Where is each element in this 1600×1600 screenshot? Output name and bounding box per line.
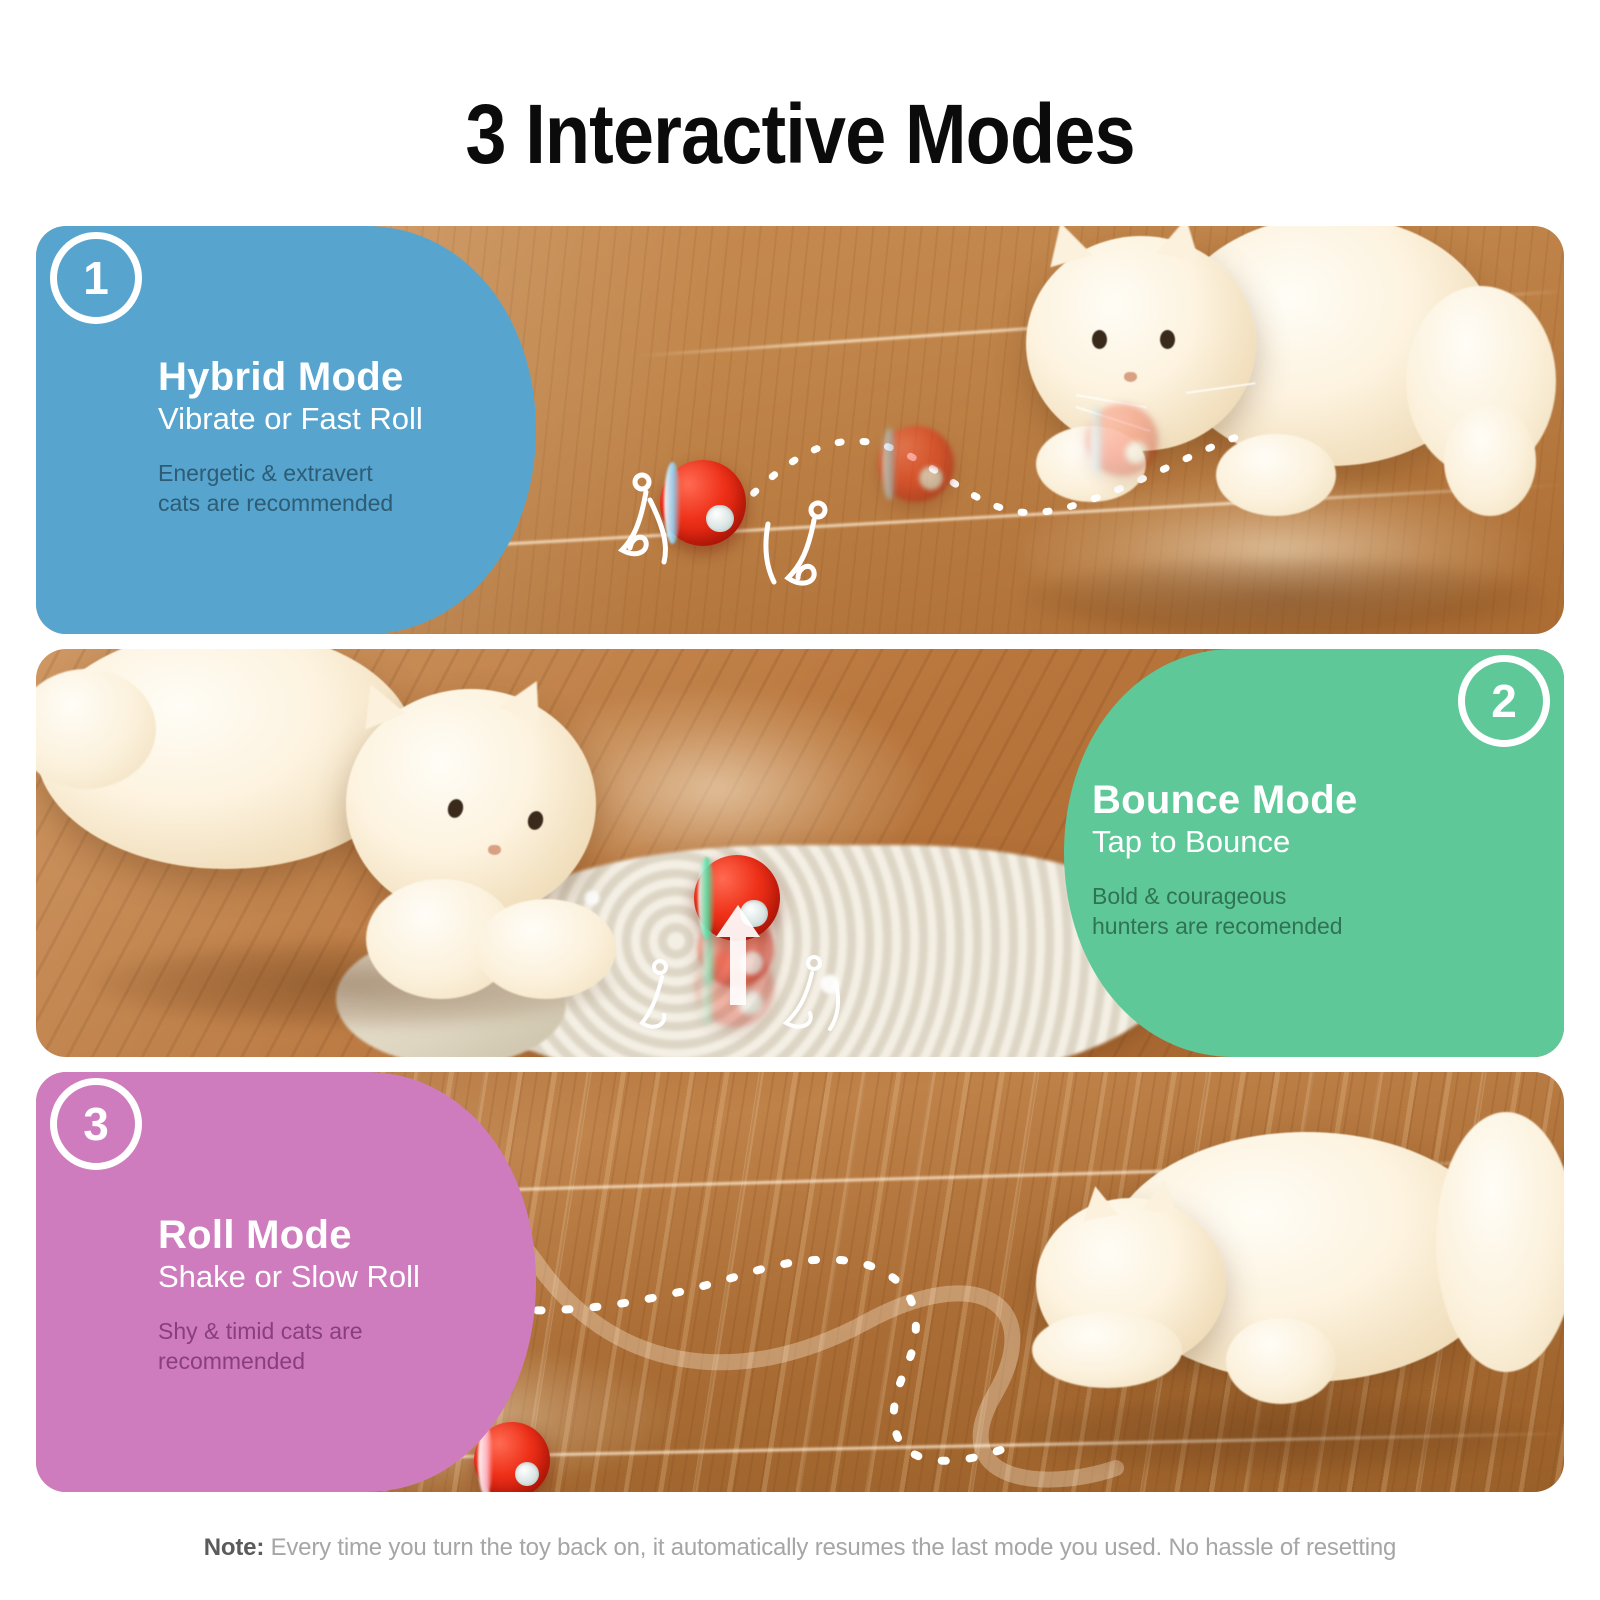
ball-led <box>919 466 943 490</box>
toy-ball-ghost <box>1086 404 1158 476</box>
cat-paw-rear-left <box>1226 1318 1336 1404</box>
mode-subtitle: Vibrate or Fast Roll <box>158 402 518 436</box>
mode-subtitle: Tap to Bounce <box>1092 825 1472 859</box>
mode-panel-roll[interactable]: 3 Roll Mode Shake or Slow Roll Shy & tim… <box>36 1072 1564 1492</box>
mode-badge-2: 2 <box>1458 655 1550 747</box>
footer-note: Note: Every time you turn the toy back o… <box>0 1534 1600 1562</box>
cat-paw-reaching <box>476 899 616 999</box>
ball-stripe <box>698 857 715 940</box>
caption-bounce-mode: Bounce Mode Tap to Bounce Bold & courage… <box>1092 779 1472 942</box>
cat-paw-front <box>1032 1312 1182 1388</box>
cat-nose <box>1124 372 1137 382</box>
cat-ear-right <box>1142 1178 1181 1215</box>
ball-led <box>738 990 763 1015</box>
ball-led <box>739 951 763 975</box>
mode-badge-1: 1 <box>50 232 142 324</box>
ball-led <box>706 505 734 533</box>
caption-hybrid-mode: Hybrid Mode Vibrate or Fast Roll Energet… <box>158 356 518 519</box>
mode-panel-bounce[interactable]: 2 Bounce Mode Tap to Bounce Bold & coura… <box>36 649 1564 1057</box>
page-title: 3 Interactive Modes <box>96 86 1504 183</box>
mode-title: Roll Mode <box>158 1214 528 1256</box>
mode-description: Shy & timid cats are recommended <box>158 1316 528 1377</box>
cat-paw-front-right <box>1216 434 1336 516</box>
footer-note-text: Every time you turn the toy back on, it … <box>264 1534 1396 1561</box>
ball-stripe <box>882 428 897 501</box>
cat-tail <box>1436 1112 1564 1372</box>
ball-led <box>740 900 768 928</box>
toy-ball-ghost <box>878 426 954 502</box>
toy-ball-primary <box>660 460 746 546</box>
mode-badge-number: 2 <box>1491 674 1517 728</box>
mode-badge-number: 1 <box>83 251 109 305</box>
mode-subtitle: Shake or Slow Roll <box>158 1260 528 1294</box>
mode-title: Bounce Mode <box>1092 779 1472 821</box>
cat-shadow <box>1026 556 1546 634</box>
mode-badge-3: 3 <box>50 1078 142 1170</box>
toy-ball-primary <box>694 855 780 941</box>
footer-note-label: Note: <box>204 1534 264 1561</box>
cat-ear-left <box>1078 1183 1118 1221</box>
cat-paw-rear <box>1444 406 1536 516</box>
mode-panel-hybrid[interactable]: 1 Hybrid Mode Vibrate or Fast Roll Energ… <box>36 226 1564 634</box>
cat-eye-left <box>1092 330 1107 349</box>
cat-nose <box>488 845 501 855</box>
ball-stripe <box>664 462 681 545</box>
caption-roll-mode: Roll Mode Shake or Slow Roll Shy & timid… <box>158 1214 528 1377</box>
cat-eye-right <box>1160 330 1175 349</box>
mode-description: Bold & courageous hunters are recomended <box>1092 881 1472 942</box>
cat-shadow <box>1016 1392 1536 1476</box>
mode-description: Energetic & extravert cats are recommend… <box>158 458 518 519</box>
mode-title: Hybrid Mode <box>158 356 518 398</box>
mode-badge-number: 3 <box>83 1097 109 1151</box>
ball-led <box>1125 441 1148 464</box>
ball-stripe <box>1090 405 1104 474</box>
